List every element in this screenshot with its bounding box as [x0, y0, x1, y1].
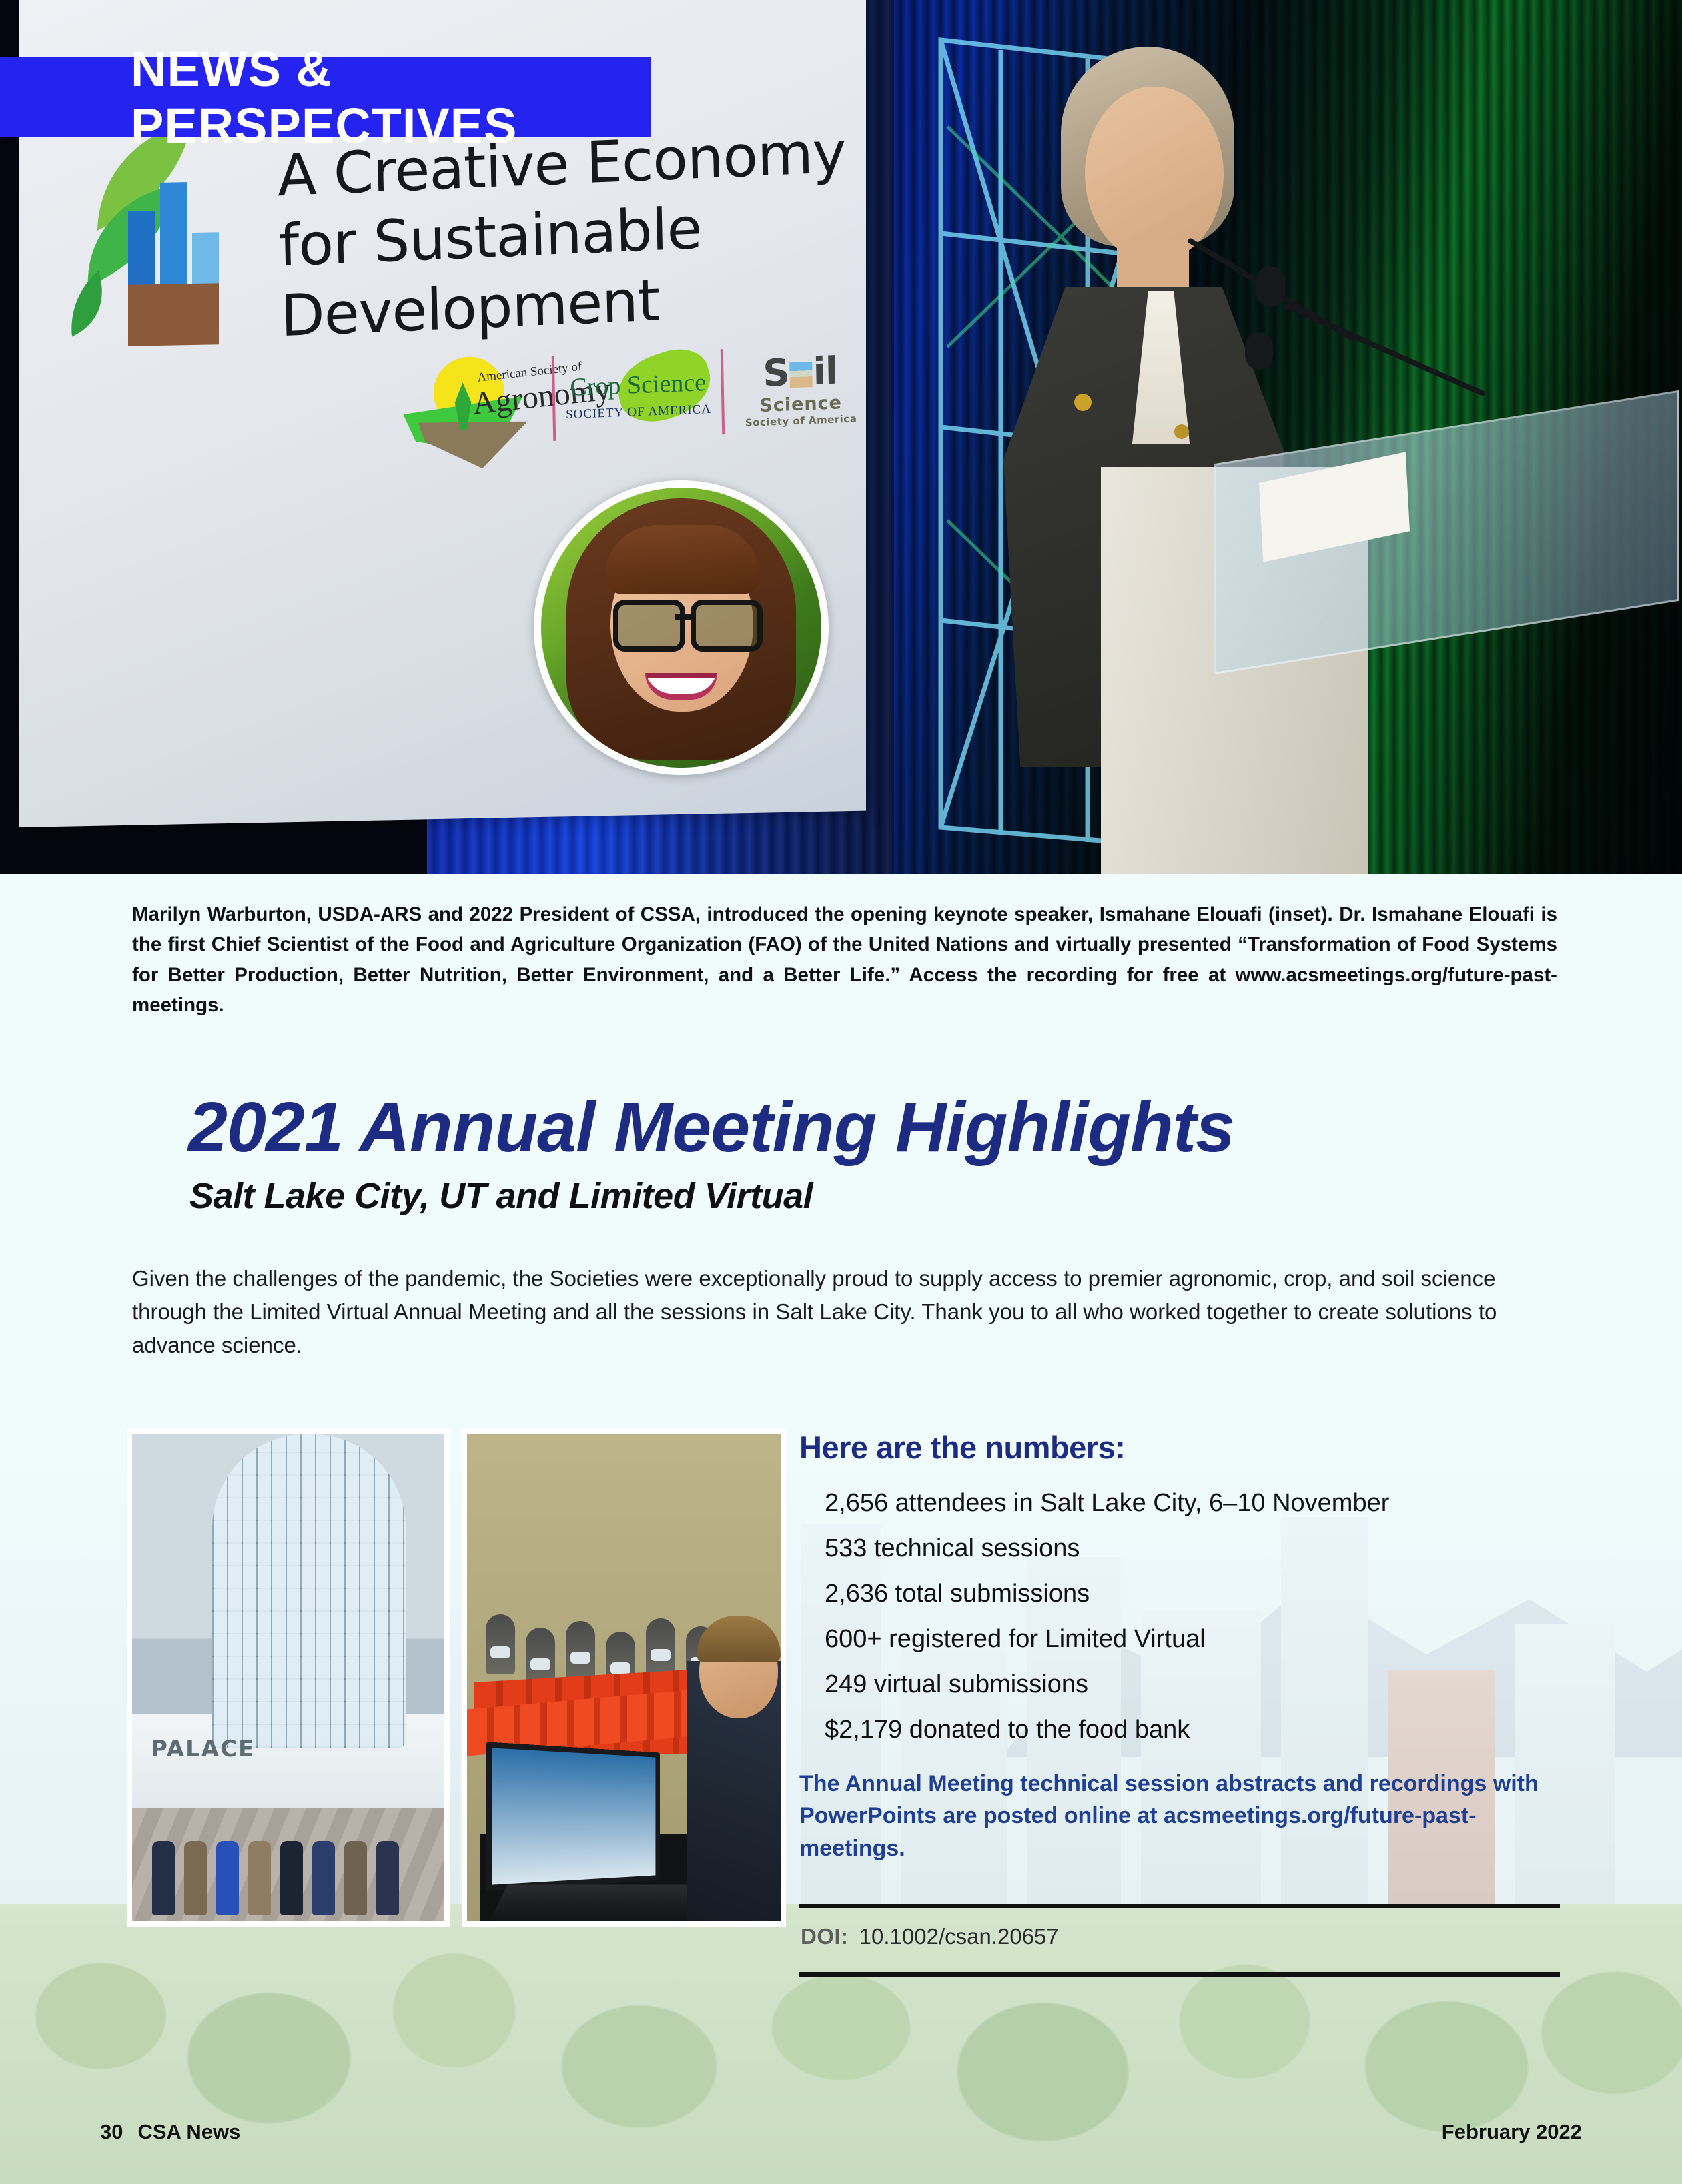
- list-item: 2,636 total submissions: [825, 1580, 1559, 1608]
- sssa-logo-sub1: Science: [759, 392, 842, 416]
- microphone-1-head: [1256, 267, 1285, 307]
- footer-left: 30CSA News: [100, 2120, 240, 2144]
- section-tag-news-and-perspectives: NEWS & PERSPECTIVES: [0, 57, 651, 137]
- page-title: 2021 Annual Meeting Highlights: [188, 1087, 1523, 1168]
- promo-text: The Annual Meeting technical session abs…: [799, 1768, 1573, 1864]
- society-logos: American Society of Agronomy Crop Scienc…: [398, 330, 867, 461]
- asa-logo: American Society of Agronomy: [398, 349, 542, 454]
- inset-portrait-avatar: [534, 480, 829, 775]
- list-item: 533 technical sessions: [825, 1534, 1559, 1563]
- doi-line: DOI:10.1002/csan.20657: [801, 1924, 1059, 1949]
- numbers-list: 2,656 attendees in Salt Lake City, 6–10 …: [825, 1489, 1559, 1761]
- cssa-logo-main: Crop Science: [570, 368, 706, 402]
- photo-technical-session: [467, 1434, 781, 1921]
- doi-rule-top: [799, 1904, 1560, 1908]
- sssa-logo-main: Sil: [763, 350, 838, 396]
- banner-line-2: for Sustainable Development: [278, 187, 862, 352]
- convention-center-sign: PALACE: [151, 1736, 255, 1762]
- photo-convention-center: PALACE: [132, 1434, 444, 1921]
- microphone-2-head: [1245, 332, 1273, 370]
- logo-divider-2: [721, 349, 725, 434]
- cssa-logo-sub: SOCIETY OF AMERICA: [566, 402, 711, 422]
- doi-value: 10.1002/csan.20657: [859, 1924, 1059, 1949]
- list-item: 2,656 attendees in Salt Lake City, 6–10 …: [825, 1489, 1559, 1518]
- glasses-icon: [613, 600, 752, 642]
- list-item: $2,179 donated to the food bank: [825, 1716, 1559, 1744]
- photo-caption: Marilyn Warburton, USDA-ARS and 2022 Pre…: [132, 899, 1557, 1021]
- cssa-logo: Crop Science SOCIETY OF AMERICA: [564, 342, 712, 448]
- numbers-heading: Here are the numbers:: [799, 1429, 1125, 1466]
- list-item: 600+ registered for Limited Virtual: [825, 1625, 1559, 1654]
- doi-rule-bottom: [799, 1972, 1560, 1977]
- page-number: 30: [100, 2120, 123, 2143]
- section-tag-label: NEWS & PERSPECTIVES: [131, 41, 651, 154]
- intro-paragraph: Given the challenges of the pandemic, th…: [132, 1262, 1520, 1362]
- footer-date: February 2022: [1442, 2120, 1582, 2144]
- sssa-logo: Sil Science Society of America: [734, 334, 867, 442]
- list-item: 249 virtual submissions: [825, 1670, 1559, 1699]
- publication-name: CSA News: [137, 2120, 240, 2143]
- doi-label: DOI:: [801, 1924, 849, 1949]
- page-subtitle: Salt Lake City, UT and Limited Virtual: [189, 1175, 813, 1217]
